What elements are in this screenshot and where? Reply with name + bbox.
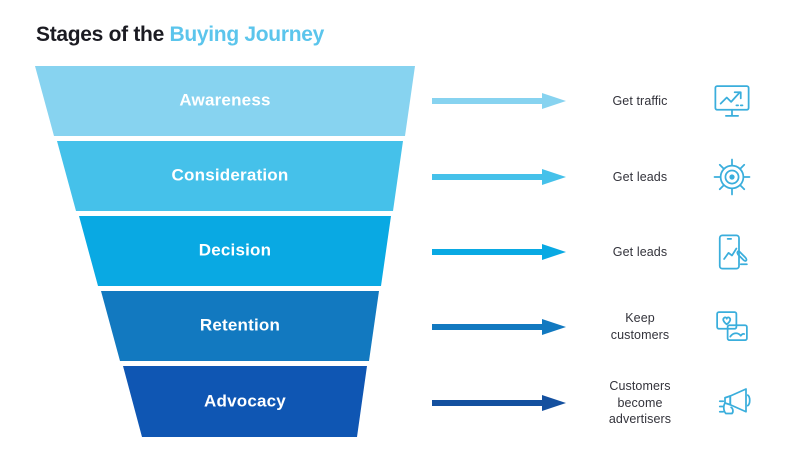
funnel-segment-consideration[interactable]: Consideration bbox=[57, 141, 403, 211]
funnel-infographic: Stages of the Buying Journey Awareness C… bbox=[0, 0, 790, 460]
funnel-segment-retention[interactable]: Retention bbox=[101, 291, 379, 361]
flow-arrow bbox=[430, 91, 580, 111]
funnel-segment-label: Awareness bbox=[179, 90, 270, 109]
outcome-row: Get leads bbox=[430, 140, 790, 214]
funnel-segment-label: Retention bbox=[200, 315, 280, 334]
outcome-label: Customersbecomeadvertisers bbox=[580, 378, 700, 429]
flow-arrow bbox=[430, 393, 580, 413]
flow-arrow bbox=[430, 167, 580, 187]
heart-cards-icon bbox=[700, 306, 764, 348]
outcome-label: Get leads bbox=[580, 244, 700, 261]
flow-arrow bbox=[430, 317, 580, 337]
outcome-label: Get traffic bbox=[580, 93, 700, 110]
outcome-label: Keepcustomers bbox=[580, 310, 700, 344]
funnel-segment-decision[interactable]: Decision bbox=[79, 216, 391, 286]
funnel-segment-awareness[interactable]: Awareness bbox=[35, 66, 415, 136]
funnel-segment-label: Advocacy bbox=[204, 391, 286, 410]
outcome-label: Get leads bbox=[580, 169, 700, 186]
flow-arrow bbox=[430, 242, 580, 262]
funnel-chart: Awareness Consideration Decision Retenti… bbox=[0, 0, 460, 460]
funnel-segment-advocacy[interactable]: Advocacy bbox=[123, 366, 367, 437]
outcome-row: Get leads bbox=[430, 215, 790, 289]
mobile-chart-tap-icon bbox=[700, 231, 764, 273]
outcome-row: Keepcustomers bbox=[430, 290, 790, 364]
megaphone-icon bbox=[700, 382, 764, 424]
outcome-row: Customersbecomeadvertisers bbox=[430, 366, 790, 440]
outcome-row: Get traffic bbox=[430, 64, 790, 138]
outcomes-list: Get traffic Get leads bbox=[430, 0, 790, 460]
funnel-segment-label: Consideration bbox=[172, 165, 289, 184]
funnel-segment-label: Decision bbox=[199, 240, 271, 259]
target-icon bbox=[700, 156, 764, 198]
monitor-chart-icon bbox=[700, 80, 764, 122]
